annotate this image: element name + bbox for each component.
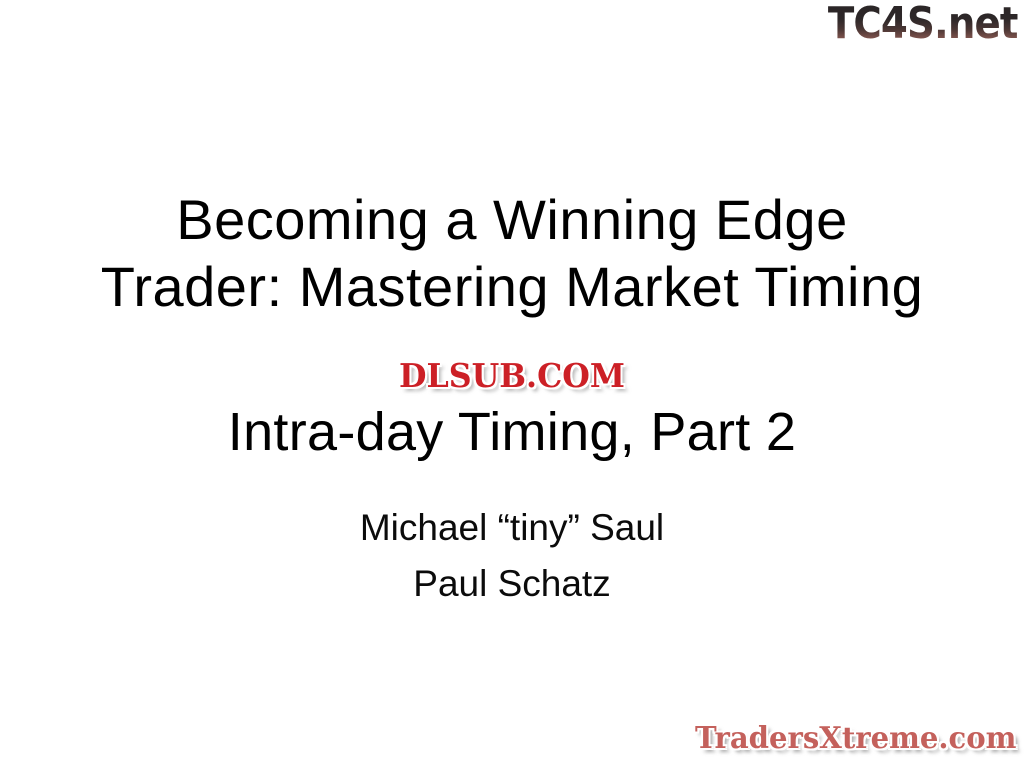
slide-title: Becoming a Winning Edge Trader: Masterin… bbox=[0, 186, 1024, 320]
slide-authors: Michael “tiny” Saul Paul Schatz bbox=[0, 500, 1024, 612]
title-line-1: Becoming a Winning Edge bbox=[0, 186, 1024, 253]
author-name-1: Michael “tiny” Saul bbox=[0, 500, 1024, 556]
tc4s-net-logo: TC4S.net bbox=[828, 2, 1018, 46]
title-line-2: Trader: Mastering Market Timing bbox=[0, 253, 1024, 320]
slide-subtitle: Intra-day Timing, Part 2 bbox=[0, 400, 1024, 464]
subtitle-line-1: Intra-day Timing, Part 2 bbox=[0, 400, 1024, 464]
dlsub-com-watermark: DLSUB.COM bbox=[399, 358, 625, 394]
tradersxtreme-com-watermark: TradersXtreme.com bbox=[694, 722, 1016, 756]
presentation-slide: TC4S.net Becoming a Winning Edge Trader:… bbox=[0, 0, 1024, 768]
author-name-2: Paul Schatz bbox=[0, 556, 1024, 612]
